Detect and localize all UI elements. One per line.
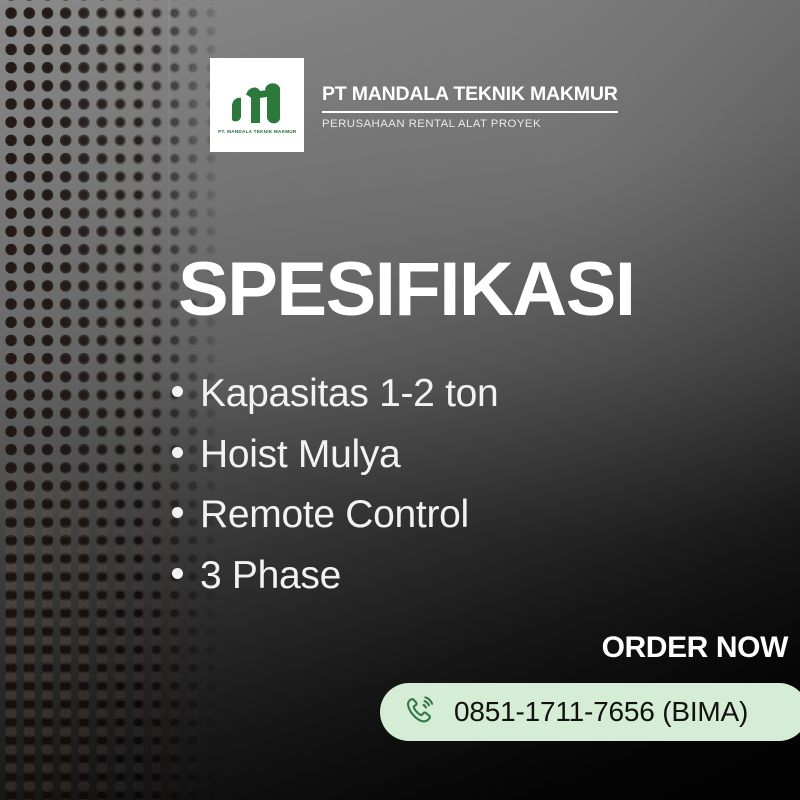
spec-label: Hoist Mulya: [200, 431, 400, 479]
bullet-icon: [172, 507, 183, 518]
brand-header: PT. MANDALA TEKNIK MAKMUR PT MANDALA TEK…: [210, 58, 618, 152]
phone-number: 0851-1711-7656 (BIMA): [454, 696, 748, 728]
list-item: Hoist Mulya: [172, 431, 498, 479]
bullet-icon: [172, 568, 183, 579]
bullet-icon: [172, 447, 183, 458]
spec-label: 3 Phase: [200, 552, 341, 600]
logo-caption: PT. MANDALA TEKNIK MAKMUR: [218, 129, 296, 134]
phone-call-icon: [402, 692, 438, 733]
list-item: 3 Phase: [172, 552, 498, 600]
phone-cta-button[interactable]: 0851-1711-7656 (BIMA): [380, 683, 800, 741]
order-now-label: ORDER NOW: [602, 631, 788, 665]
company-logo: PT. MANDALA TEKNIK MAKMUR: [210, 58, 304, 152]
bullet-icon: [172, 386, 183, 397]
brand-divider: [322, 111, 618, 113]
mandala-m-monogram-icon: [224, 79, 290, 125]
company-tagline: PERUSAHAAN RENTAL ALAT PROYEK: [322, 118, 618, 130]
spec-list: Kapasitas 1-2 ton Hoist Mulya Remote Con…: [172, 370, 498, 612]
company-name: PT MANDALA TEKNIK MAKMUR: [322, 84, 618, 105]
list-item: Remote Control: [172, 491, 498, 539]
list-item: Kapasitas 1-2 ton: [172, 370, 498, 418]
brand-text-block: PT MANDALA TEKNIK MAKMUR PERUSAHAAN RENT…: [322, 80, 618, 129]
spec-label: Kapasitas 1-2 ton: [200, 370, 498, 418]
spec-label: Remote Control: [200, 491, 469, 539]
page-title: SPESIFIKASI: [178, 252, 635, 328]
poster-canvas: PT. MANDALA TEKNIK MAKMUR PT MANDALA TEK…: [0, 0, 800, 800]
